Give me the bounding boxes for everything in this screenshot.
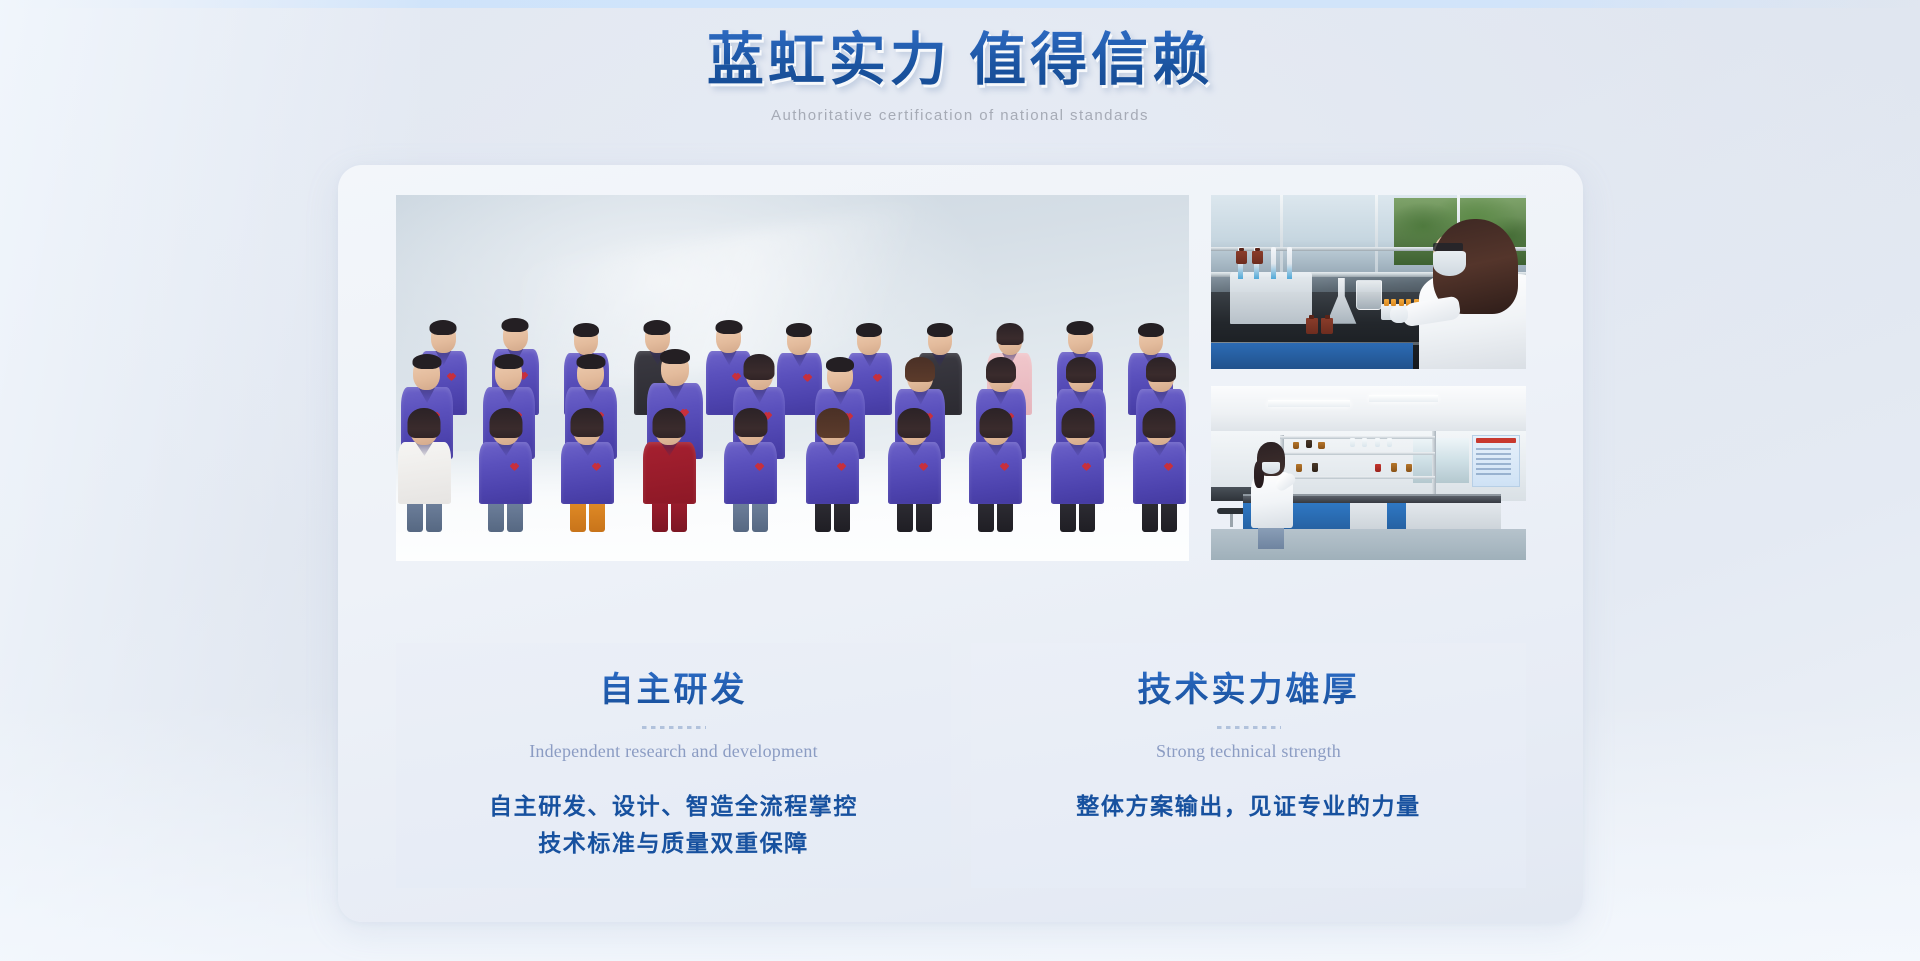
card-body: 自主研发、设计、智造全流程掌控 技术标准与质量双重保障 [396,788,951,863]
reagent-bottle [1387,438,1392,447]
page-subtitle: Authoritative certification of national … [0,107,1920,124]
reagent-shelf [1280,436,1434,439]
page-title: 蓝虹实力 值得信赖 [0,26,1920,96]
face-mask [1433,251,1466,275]
glasses [1433,243,1463,251]
safety-poster [1472,435,1519,487]
ceiling-light [1369,395,1438,402]
background-top-glow [0,0,1920,8]
photo-gallery [396,195,1526,561]
card-body-line: 整体方案输出，见证专业的力量 [971,788,1526,825]
company-team-group-photo[interactable] [396,195,1189,561]
researcher-figure [1249,442,1299,543]
window-mullion [1280,195,1283,275]
reagent-bottle [1318,442,1325,449]
researcher-figure [1394,216,1526,369]
reagent-bottle [1375,438,1380,447]
pipette-rack [1230,272,1312,324]
reagent-shelf [1280,452,1434,455]
window-mullion [1375,195,1378,275]
lab-cabinet-panel [1211,343,1413,369]
shelf-frame [1432,431,1436,501]
face-mask [1262,462,1280,474]
card-divider [642,726,706,729]
glove [1390,306,1408,323]
card-title: 自主研发 [396,671,951,712]
reagent-bottle [1252,251,1263,264]
card-subtitle: Strong technical strength [971,741,1526,762]
section-heading: 蓝虹实力 值得信赖 Authoritative certification of… [0,26,1920,124]
card-body-line: 自主研发、设计、智造全流程掌控 [396,788,951,825]
card-body-line: 技术标准与质量双重保障 [396,825,951,862]
feature-cards: 自主研发 Independent research and developmen… [396,643,1526,888]
reagent-bottle [1350,438,1355,447]
ceiling-light [1268,400,1350,407]
reagent-bottle [1391,463,1397,472]
card-divider [1217,726,1281,729]
card-subtitle: Independent research and development [396,741,951,762]
lab-ceiling [1211,386,1526,431]
feature-card-technical-strength[interactable]: 技术实力雄厚 Strong technical strength 整体方案输出，… [971,643,1526,888]
reagent-shelf [1280,476,1434,479]
laboratory-interior-photo[interactable] [1211,386,1526,560]
reagent-bottle [1306,440,1312,448]
group-photo-front-row [398,411,1186,532]
reagent-bottle [1321,318,1333,334]
reagent-bottle [1236,251,1247,264]
beaker [1356,280,1382,310]
reagent-bottle [1362,438,1367,447]
content-panel: 自主研发 Independent research and developmen… [338,165,1583,922]
reagent-bottle [1406,464,1412,472]
feature-card-independent-rnd[interactable]: 自主研发 Independent research and developmen… [396,643,951,888]
card-title: 技术实力雄厚 [971,671,1526,712]
trousers [1258,524,1284,548]
reagent-bottle [1306,318,1318,334]
side-photo-column [1211,195,1526,561]
card-body: 整体方案输出，见证专业的力量 [971,788,1526,825]
reagent-bottle [1375,464,1381,472]
reagent-bottle [1312,463,1318,472]
lab-researcher-pipetting-photo[interactable] [1211,195,1526,369]
